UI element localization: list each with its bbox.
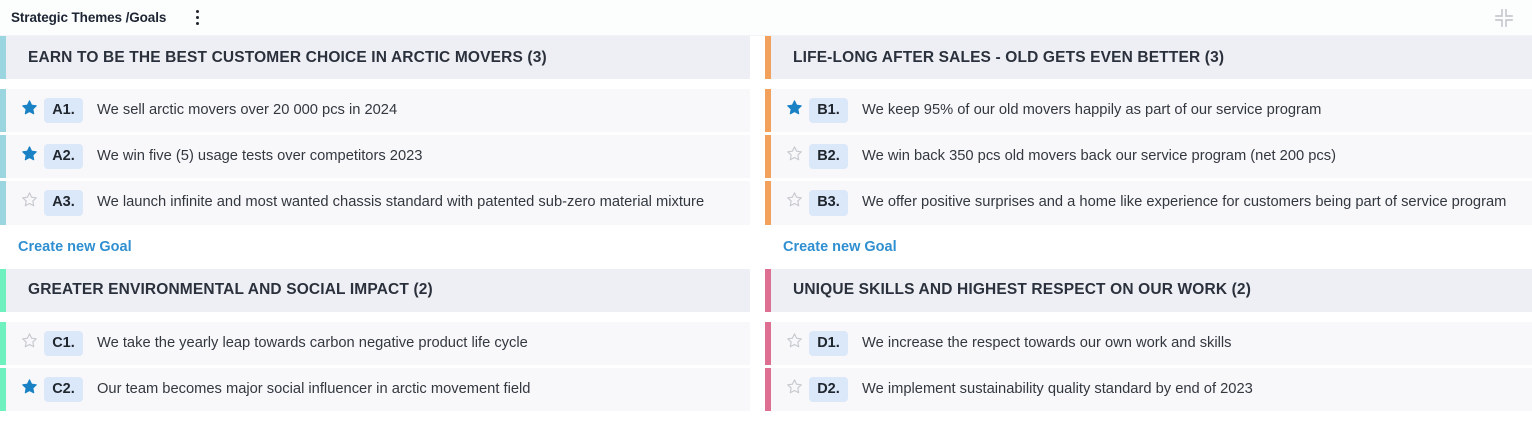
goal-row[interactable]: A3.We launch infinite and most wanted ch… [0,181,750,224]
theme-card-theme-c: GREATER ENVIRONMENTAL AND SOCIAL IMPACT … [0,269,750,422]
theme-header-theme-c[interactable]: GREATER ENVIRONMENTAL AND SOCIAL IMPACT … [0,269,750,312]
goal-text: We offer positive surprises and a home l… [862,190,1506,213]
app-header: Strategic Themes /Goals [0,0,1532,36]
theme-card-theme-a: EARN TO BE THE BEST CUSTOMER CHOICE IN A… [0,36,750,269]
theme-card-theme-b: LIFE-LONG AFTER SALES - OLD GETS EVEN BE… [765,36,1532,269]
theme-card-theme-d: UNIQUE SKILLS AND HIGHEST RESPECT ON OUR… [765,269,1532,422]
goal-row[interactable]: C2.Our team becomes major social influen… [0,368,750,411]
star-filled-icon[interactable] [14,144,44,162]
star-filled-icon[interactable] [14,98,44,116]
goal-text: We win back 350 pcs old movers back our … [862,144,1336,167]
goal-code-badge: B1. [809,98,848,123]
goal-row[interactable]: B1.We keep 95% of our old movers happily… [765,89,1532,132]
goal-text: We increase the respect towards our own … [862,331,1232,354]
goal-text: We take the yearly leap towards carbon n… [97,331,528,354]
theme-title: UNIQUE SKILLS AND HIGHEST RESPECT ON OUR… [793,281,1251,299]
theme-header-theme-b[interactable]: LIFE-LONG AFTER SALES - OLD GETS EVEN BE… [765,36,1532,79]
theme-title: LIFE-LONG AFTER SALES - OLD GETS EVEN BE… [793,49,1224,67]
theme-title: EARN TO BE THE BEST CUSTOMER CHOICE IN A… [28,49,547,67]
goal-code-badge: D2. [809,377,848,402]
goal-code-badge: A3. [44,190,83,215]
goal-row[interactable]: B2.We win back 350 pcs old movers back o… [765,135,1532,178]
star-outline-icon[interactable] [779,331,809,349]
goal-row[interactable]: B3.We offer positive surprises and a hom… [765,181,1532,224]
kebab-menu-icon[interactable] [188,8,206,28]
goal-row[interactable]: A2.We win five (5) usage tests over comp… [0,135,750,178]
goal-code-badge: B2. [809,144,848,169]
goal-code-badge: A2. [44,144,83,169]
goal-code-badge: D1. [809,331,848,356]
kebab-dot [196,10,200,14]
collapse-arrows-icon[interactable] [1493,7,1515,29]
goal-text: We implement sustainability quality stan… [862,377,1253,400]
goal-text: We keep 95% of our old movers happily as… [862,98,1321,121]
create-new-goal-link[interactable]: Create new Goal [18,239,132,255]
goal-text: We sell arctic movers over 20 000 pcs in… [97,98,397,121]
goal-code-badge: B3. [809,190,848,215]
goal-text: We launch infinite and most wanted chass… [97,190,704,213]
goal-text: Our team becomes major social influencer… [97,377,530,400]
star-filled-icon[interactable] [779,98,809,116]
star-outline-icon[interactable] [779,144,809,162]
theme-header-theme-d[interactable]: UNIQUE SKILLS AND HIGHEST RESPECT ON OUR… [765,269,1532,312]
goal-row[interactable]: D1.We increase the respect towards our o… [765,322,1532,365]
goal-code-badge: C2. [44,377,83,402]
goal-row[interactable]: D2.We implement sustainability quality s… [765,368,1532,411]
star-filled-icon[interactable] [14,377,44,395]
star-outline-icon[interactable] [779,377,809,395]
kebab-dot [196,22,200,26]
kebab-dot [196,16,200,20]
goal-text: We win five (5) usage tests over competi… [97,144,422,167]
theme-title: GREATER ENVIRONMENTAL AND SOCIAL IMPACT … [28,281,433,299]
themes-board: EARN TO BE THE BEST CUSTOMER CHOICE IN A… [0,36,1532,422]
theme-header-theme-a[interactable]: EARN TO BE THE BEST CUSTOMER CHOICE IN A… [0,36,750,79]
goal-code-badge: C1. [44,331,83,356]
goal-row[interactable]: C1.We take the yearly leap towards carbo… [0,322,750,365]
goal-row[interactable]: A1.We sell arctic movers over 20 000 pcs… [0,89,750,132]
create-new-goal-link[interactable]: Create new Goal [783,239,897,255]
star-outline-icon[interactable] [779,190,809,208]
star-outline-icon[interactable] [14,190,44,208]
star-outline-icon[interactable] [14,331,44,349]
page-title: Strategic Themes /Goals [11,10,166,25]
goal-code-badge: A1. [44,98,83,123]
